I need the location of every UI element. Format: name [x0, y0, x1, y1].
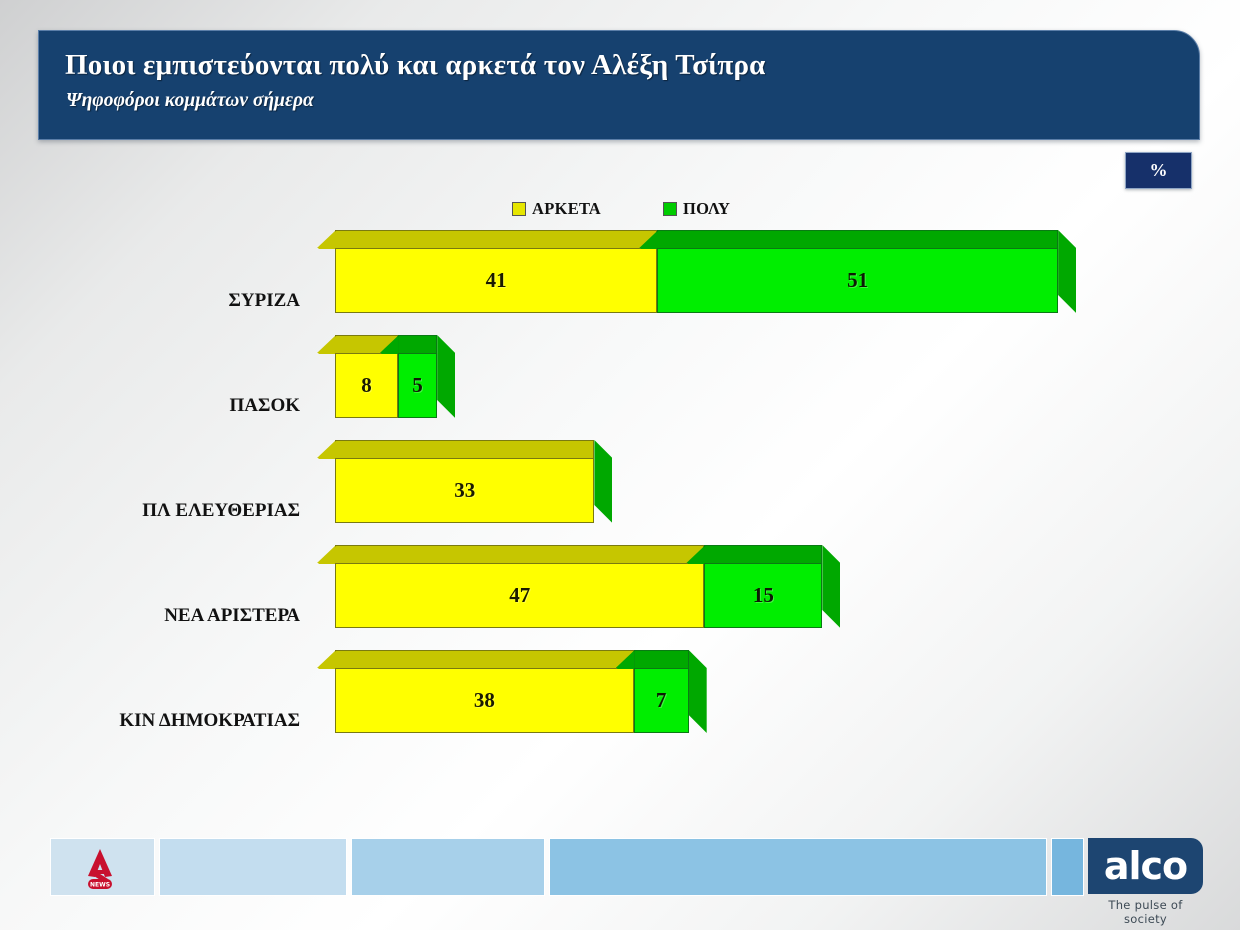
page-title: Ποιοι εμπιστεύονται πολύ και αρκετά τον … — [65, 49, 766, 82]
bar-top-face-poly — [634, 650, 689, 668]
category-label: ΣΥΡΙΖΑ — [228, 290, 300, 312]
bar-value-poly: 51 — [847, 268, 868, 293]
bar-value-arketa: 41 — [486, 268, 507, 293]
legend-label: ΑΡΚΕΤΑ — [532, 199, 601, 219]
slide-footer: NEWS alco The pulse of society — [0, 838, 1240, 930]
bar-front-face-poly: 5 — [398, 353, 437, 418]
bar-top-face-poly — [398, 335, 437, 353]
bar-segment-poly[interactable]: 5 — [398, 353, 437, 418]
bar-segment-poly[interactable]: 51 — [657, 248, 1058, 313]
title-banner: Ποιοι εμπιστεύονται πολύ και αρκετά τον … — [38, 30, 1200, 140]
bar-value-poly: 5 — [412, 373, 423, 398]
footer-box-5 — [1051, 838, 1084, 896]
chart-row: ΣΥΡΙΖΑ4151 — [0, 230, 1240, 335]
bar-segment-arketa[interactable]: 33 — [335, 458, 594, 523]
bar-segment-poly[interactable]: 15 — [704, 563, 822, 628]
bar-value-poly: 15 — [753, 583, 774, 608]
chart-row: ΠΛ ΕΛΕΥΘΕΡΙΑΣ33 — [0, 440, 1240, 545]
alco-brand-logo: alco — [1088, 838, 1203, 894]
bar-front-face-arketa: 47 — [335, 563, 704, 628]
category-label: ΠΑΣΟΚ — [230, 395, 300, 417]
category-label: ΝΕΑ ΑΡΙΣΤΕΡΑ — [164, 605, 300, 627]
bar-top-face-poly — [704, 545, 822, 563]
bar-top-face-arketa — [335, 650, 634, 668]
bar-side-face-poly — [437, 335, 455, 418]
svg-text:NEWS: NEWS — [90, 882, 110, 889]
footer-box-2 — [159, 838, 347, 896]
bar-top-face-arketa — [335, 545, 704, 563]
category-label: ΠΛ ΕΛΕΥΘΕΡΙΑΣ — [142, 500, 300, 522]
bar-segment-arketa[interactable]: 38 — [335, 668, 634, 733]
legend-swatch-yellow-icon — [512, 202, 526, 216]
bar-front-face-arketa: 33 — [335, 458, 594, 523]
bar-chart-plot-area: ΣΥΡΙΖΑ4151ΠΑΣΟΚ85ΠΛ ΕΛΕΥΘΕΡΙΑΣ33ΝΕΑ ΑΡΙΣ… — [0, 230, 1240, 780]
bar-segment-arketa[interactable]: 41 — [335, 248, 657, 313]
bar-value-poly: 7 — [656, 688, 667, 713]
bar-top-face-arketa — [335, 230, 657, 248]
slide-canvas: Ποιοι εμπιστεύονται πολύ και αρκετά τον … — [0, 0, 1240, 930]
chart-row: ΚΙΝ ΔΗΜΟΚΡΑΤΙΑΣ387 — [0, 650, 1240, 755]
bar-segment-arketa[interactable]: 47 — [335, 563, 704, 628]
bar-top-face-arketa — [335, 440, 594, 458]
chart-legend: ΑΡΚΕΤΑΠΟΛΥ — [512, 199, 730, 219]
chart-row: ΠΑΣΟΚ85 — [0, 335, 1240, 440]
bar-front-face-arketa: 41 — [335, 248, 657, 313]
bar-front-face-poly: 7 — [634, 668, 689, 733]
legend-swatch-green-icon — [663, 202, 677, 216]
bar-front-face-arketa: 38 — [335, 668, 634, 733]
bar-value-arketa: 38 — [474, 688, 495, 713]
bar-front-face-poly: 51 — [657, 248, 1058, 313]
bar-value-arketa: 8 — [361, 373, 372, 398]
legend-label: ΠΟΛΥ — [683, 199, 730, 219]
percent-unit-label: % — [1150, 160, 1168, 181]
bar-top-face-poly — [657, 230, 1058, 248]
footer-box-3 — [351, 838, 545, 896]
bar-front-face-arketa: 8 — [335, 353, 398, 418]
bar-side-face-poly — [689, 650, 707, 733]
percent-unit-badge: % — [1125, 152, 1192, 189]
bar-segment-poly[interactable]: 7 — [634, 668, 689, 733]
bar-side-face-poly — [1058, 230, 1076, 313]
legend-item-yellow[interactable]: ΑΡΚΕΤΑ — [512, 199, 601, 219]
page-subtitle: Ψηφοφόροι κομμάτων σήμερα — [66, 90, 314, 112]
footer-box-4 — [549, 838, 1047, 896]
bar-front-face-poly: 15 — [704, 563, 822, 628]
alpha-news-logo-icon: NEWS — [78, 846, 122, 892]
alco-brand-tagline: The pulse of society — [1088, 898, 1203, 926]
bar-value-arketa: 33 — [454, 478, 475, 503]
legend-item-green[interactable]: ΠΟΛΥ — [663, 199, 730, 219]
alco-brand-name: alco — [1104, 847, 1187, 885]
bar-side-face-poly — [594, 440, 612, 523]
bar-segment-arketa[interactable]: 8 — [335, 353, 398, 418]
chart-row: ΝΕΑ ΑΡΙΣΤΕΡΑ4715 — [0, 545, 1240, 650]
category-label: ΚΙΝ ΔΗΜΟΚΡΑΤΙΑΣ — [119, 710, 300, 732]
bar-side-face-poly — [822, 545, 840, 628]
bar-value-arketa: 47 — [509, 583, 530, 608]
